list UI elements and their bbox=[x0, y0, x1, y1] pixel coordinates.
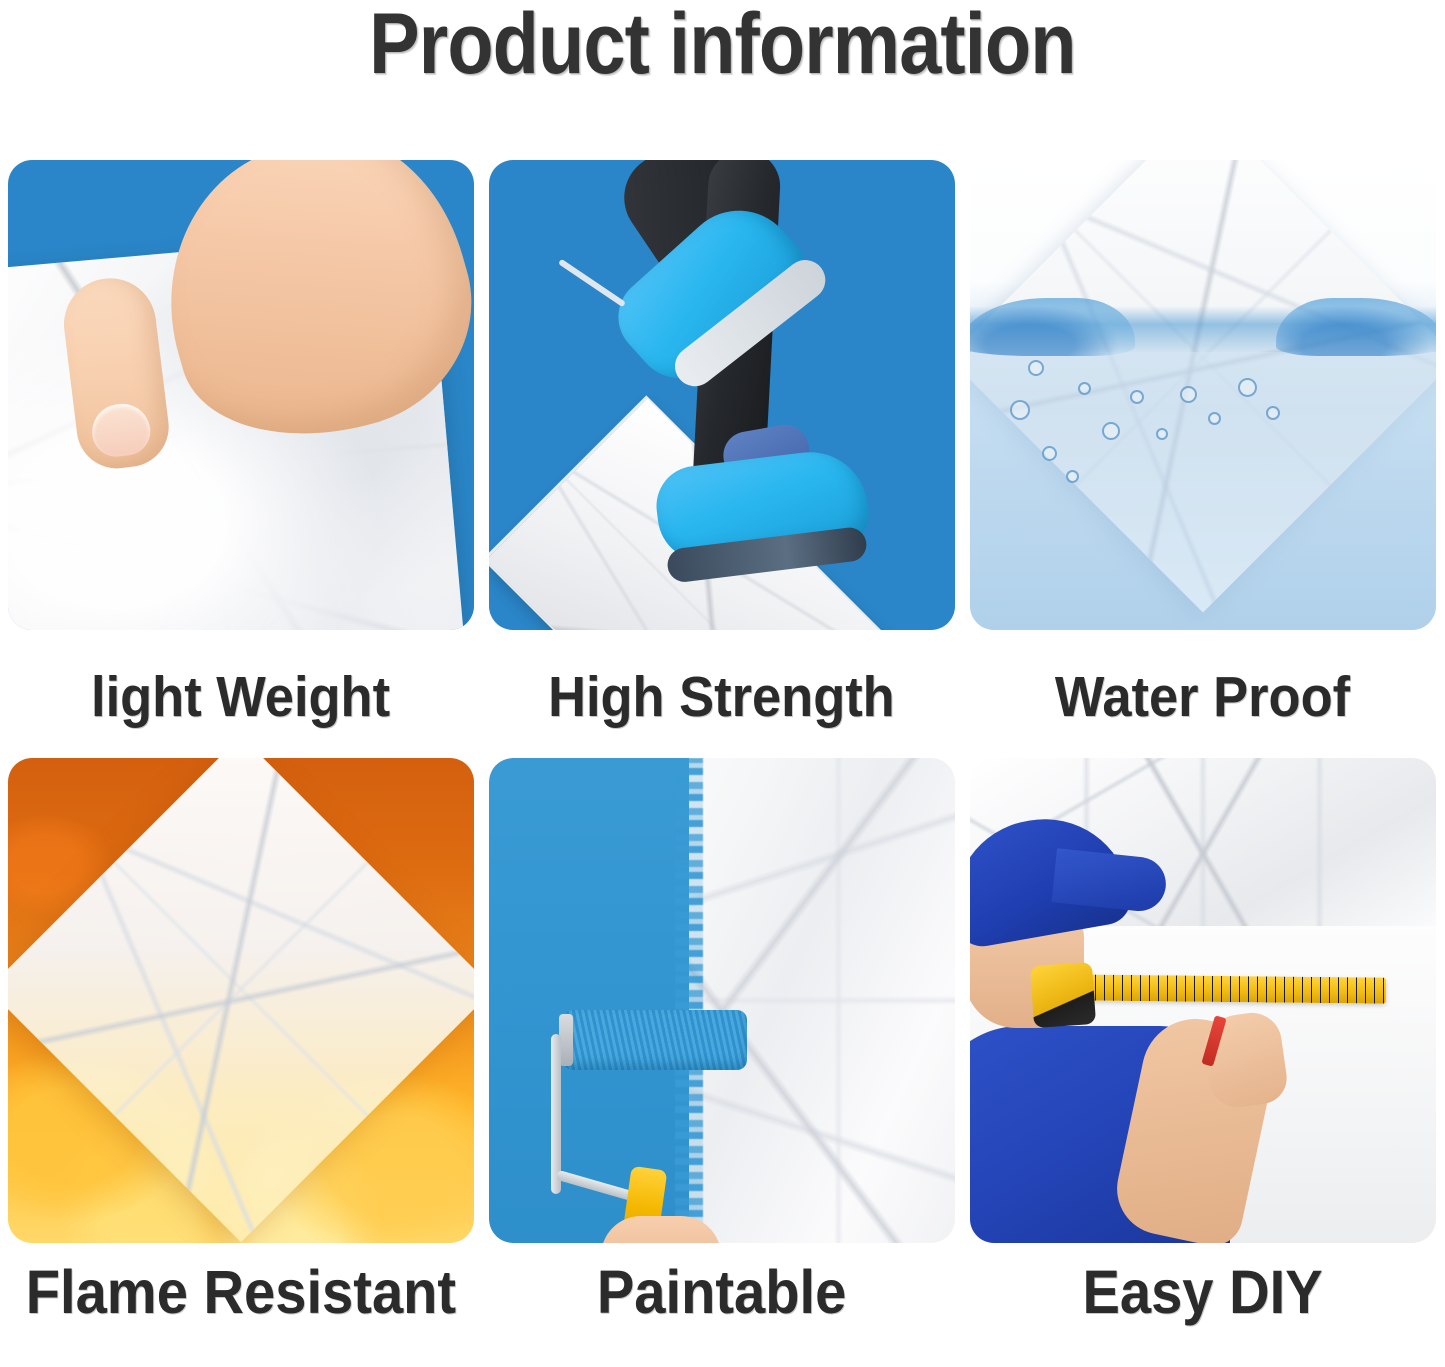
feature-card-high-strength[interactable]: High Strength bbox=[481, 160, 962, 728]
feature-image-paintable bbox=[489, 758, 955, 1243]
feature-caption-light-weight: light Weight bbox=[91, 666, 390, 728]
feature-image-light-weight bbox=[8, 160, 474, 630]
title-bar: Product information bbox=[0, 0, 1445, 92]
page-title: Product information bbox=[369, 2, 1075, 86]
feature-caption-high-strength: High Strength bbox=[548, 666, 895, 728]
wave-right-icon bbox=[1276, 298, 1436, 356]
feature-image-easy-diy bbox=[970, 758, 1436, 1243]
feature-card-paintable[interactable]: Paintable bbox=[481, 758, 962, 1325]
feature-image-high-strength bbox=[489, 160, 955, 630]
tape-measure-case-icon bbox=[1029, 962, 1095, 1028]
wave-left-icon bbox=[970, 298, 1135, 356]
feature-image-flame-resistant bbox=[8, 758, 474, 1243]
diamond-panel-shape bbox=[970, 160, 1436, 613]
bubble-icon bbox=[1180, 386, 1197, 403]
feature-card-water-proof[interactable]: Water Proof bbox=[962, 160, 1443, 728]
bubble-icon bbox=[1238, 378, 1257, 397]
bubble-icon bbox=[1102, 422, 1120, 440]
feature-card-easy-diy[interactable]: Easy DIY bbox=[962, 758, 1443, 1325]
feature-card-light-weight[interactable]: light Weight bbox=[0, 160, 481, 728]
diamond-panel-shape bbox=[8, 758, 474, 1242]
feature-caption-paintable: Paintable bbox=[597, 1259, 847, 1325]
shoelace-shape bbox=[557, 259, 625, 308]
feature-caption-flame-resistant: Flame Resistant bbox=[25, 1259, 455, 1325]
bubble-icon bbox=[1028, 360, 1044, 376]
feature-caption-water-proof: Water Proof bbox=[1055, 666, 1350, 728]
bubble-icon bbox=[1130, 390, 1144, 404]
bubble-icon bbox=[1078, 382, 1091, 395]
paint-edge-texture bbox=[675, 758, 703, 1243]
feature-card-flame-resistant[interactable]: Flame Resistant bbox=[0, 758, 481, 1325]
feature-image-water-proof bbox=[970, 160, 1436, 630]
paint-roller-icon bbox=[563, 1010, 747, 1070]
roller-cap-shape bbox=[559, 1014, 573, 1066]
feature-caption-easy-diy: Easy DIY bbox=[1082, 1259, 1322, 1325]
bubble-icon bbox=[1208, 412, 1221, 425]
bubble-icon bbox=[1066, 470, 1079, 483]
bubble-icon bbox=[1010, 400, 1030, 420]
bubble-icon bbox=[1156, 428, 1168, 440]
bubble-icon bbox=[1266, 406, 1280, 420]
feature-grid: light Weight High Strength bbox=[0, 160, 1445, 1325]
bubble-icon bbox=[1042, 446, 1057, 461]
tape-measure-icon bbox=[1067, 974, 1385, 1003]
feature-row-2: Flame Resistant Paintable bbox=[0, 758, 1445, 1325]
feature-row-1: light Weight High Strength bbox=[0, 160, 1445, 728]
